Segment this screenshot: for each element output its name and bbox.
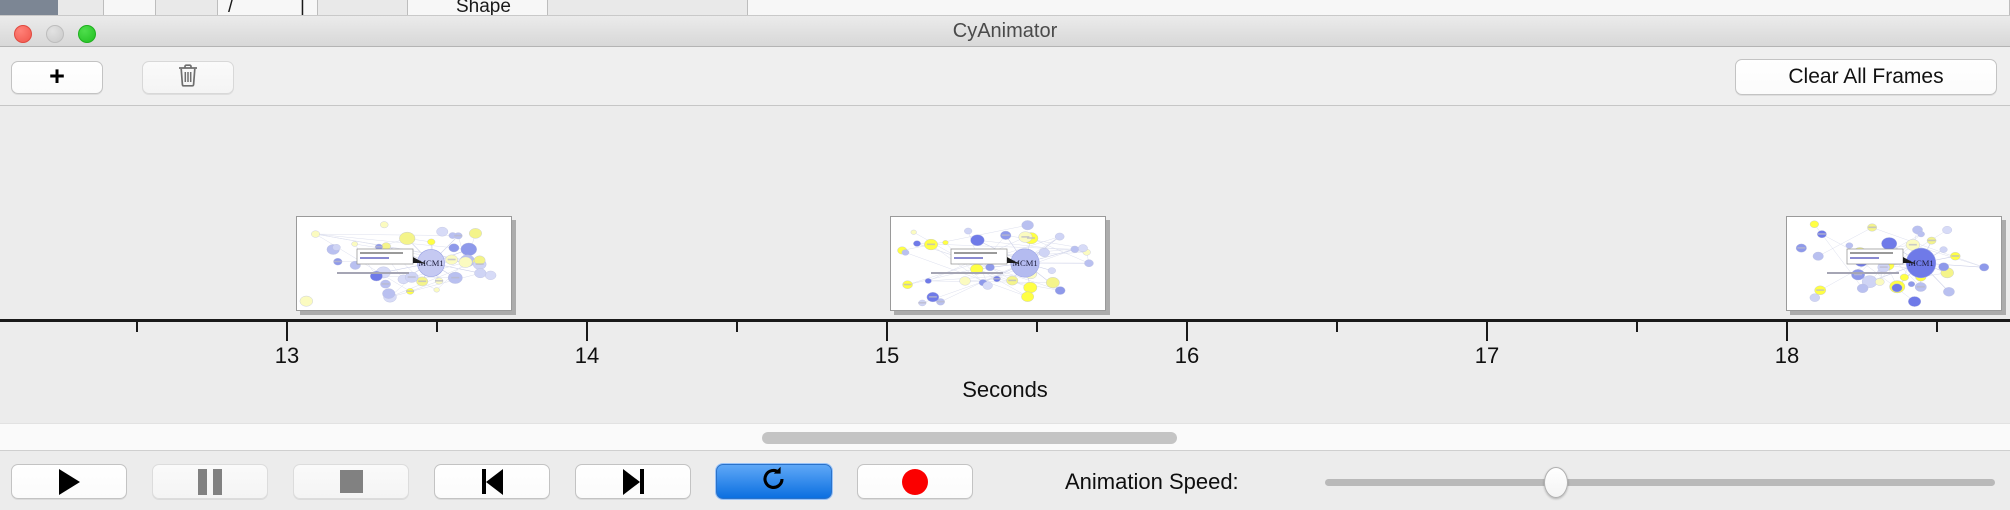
network-graph-preview: MCM1 [891, 217, 1106, 311]
axis-tick [736, 322, 738, 332]
background-window-strip: / | Shape [0, 0, 2010, 16]
animation-speed-label: Animation Speed: [1065, 464, 1239, 499]
axis-tick-label: 13 [275, 343, 299, 369]
axis-tick-label: 16 [1175, 343, 1199, 369]
loop-button[interactable] [716, 464, 832, 499]
axis-tick [1636, 322, 1638, 332]
axis-title: Seconds [0, 377, 2010, 403]
timeline-panel[interactable]: MCM1MCM1MCM1 Seconds 2131415161718 [0, 106, 2010, 423]
plus-icon: + [49, 63, 65, 90]
axis-tick-label: 15 [875, 343, 899, 369]
axis-tick [1786, 322, 1788, 341]
axis-tick [1936, 322, 1938, 332]
stop-icon [340, 470, 363, 493]
pause-button[interactable] [152, 464, 268, 499]
axis-tick [1336, 322, 1338, 332]
animation-speed-slider[interactable] [1325, 464, 1995, 499]
delete-frame-button[interactable] [142, 61, 234, 94]
frame-thumbnail[interactable]: MCM1 [1786, 216, 2002, 311]
window-title: CyAnimator [0, 16, 2010, 47]
bg-glyph: / [228, 0, 233, 16]
bg-panel [104, 0, 156, 16]
bg-panel [58, 0, 104, 16]
axis-tick [286, 322, 288, 341]
bg-glyph: | [300, 0, 305, 16]
trash-icon [177, 63, 199, 92]
play-icon [59, 469, 80, 495]
bg-panel [748, 0, 2010, 16]
skip-to-end-button[interactable] [575, 464, 691, 499]
axis-tick [136, 322, 138, 332]
add-frame-button[interactable]: + [11, 61, 103, 94]
skip-to-end-icon [623, 469, 644, 495]
frame-thumbnails-layer: MCM1MCM1MCM1 [0, 106, 2010, 321]
axis-line [0, 319, 2010, 322]
timeline-horizontal-scrollbar[interactable] [0, 423, 2010, 451]
frame-thumbnail[interactable]: MCM1 [890, 216, 1106, 311]
bg-panel [318, 0, 408, 16]
network-graph-preview: MCM1 [1787, 217, 2002, 311]
scrollbar-thumb[interactable] [762, 432, 1177, 444]
title-bar: CyAnimator [0, 16, 2010, 47]
frame-thumbnail[interactable]: MCM1 [296, 216, 512, 311]
axis-tick [586, 322, 588, 341]
clear-all-frames-label: Clear All Frames [1788, 65, 1943, 89]
pause-icon [198, 469, 222, 495]
record-icon [902, 469, 928, 495]
clear-all-frames-button[interactable]: Clear All Frames [1735, 59, 1997, 95]
axis-tick-label: 14 [575, 343, 599, 369]
axis-tick-label: 18 [1775, 343, 1799, 369]
play-button[interactable] [11, 464, 127, 499]
skip-to-start-button[interactable] [434, 464, 550, 499]
slider-thumb[interactable] [1544, 467, 1568, 498]
axis-tick [436, 322, 438, 332]
bg-dark-panel [0, 0, 58, 16]
record-button[interactable] [857, 464, 973, 499]
loop-icon [760, 465, 788, 498]
slider-track[interactable] [1325, 479, 1995, 486]
playback-controls-bar: Animation Speed: [0, 451, 2010, 510]
cyanimator-window: CyAnimator + Clear All Frames MCM1MCM1MC… [0, 16, 2010, 510]
axis-tick-label: 17 [1475, 343, 1499, 369]
network-graph-preview: MCM1 [297, 217, 512, 311]
skip-to-start-icon [482, 469, 503, 495]
stop-button[interactable] [293, 464, 409, 499]
toolbar: + Clear All Frames [0, 47, 2010, 106]
bg-panel [548, 0, 748, 16]
bg-label-shape: Shape [456, 0, 511, 16]
axis-tick [1036, 322, 1038, 332]
axis-tick [1486, 322, 1488, 341]
bg-panel [156, 0, 218, 16]
axis-tick [1186, 322, 1188, 341]
timeline-axis: Seconds 2131415161718 [0, 319, 2010, 423]
axis-tick [886, 322, 888, 341]
